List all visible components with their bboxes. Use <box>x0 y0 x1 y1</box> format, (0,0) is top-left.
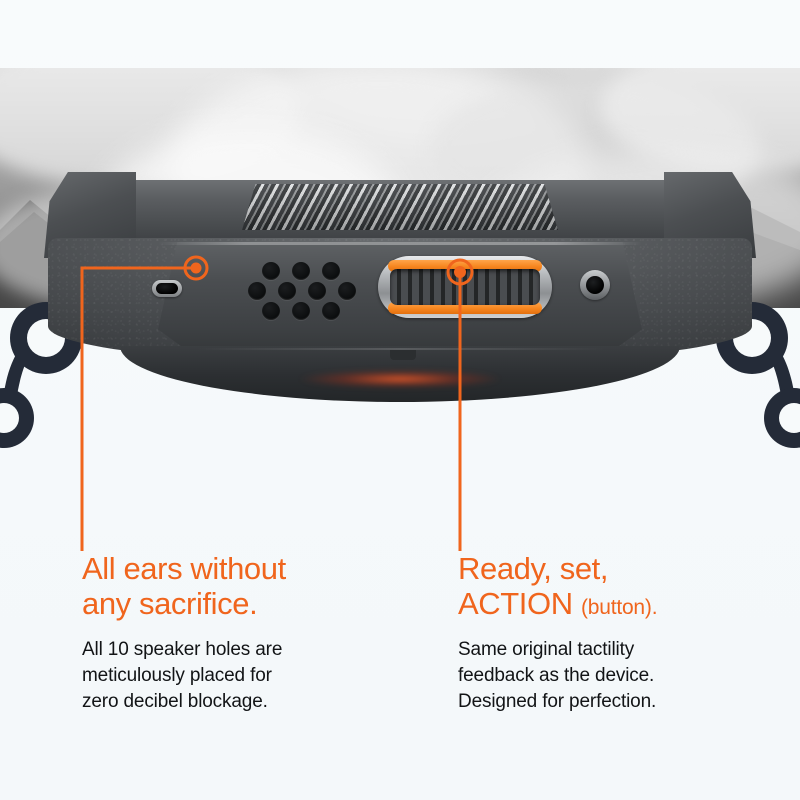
speaker-hole <box>262 302 280 320</box>
speaker-hole <box>262 262 280 280</box>
speakers-body-line1: All 10 speaker holes are <box>82 637 412 663</box>
speakers-body: All 10 speaker holes are meticulously pl… <box>82 637 412 714</box>
action-heading: Ready, set, ACTION (button). <box>458 552 788 621</box>
speakers-heading-line2: any sacrifice. <box>82 587 412 622</box>
speaker-hole-grid <box>258 262 364 320</box>
rugged-case-device <box>0 170 800 430</box>
action-body-line2: feedback as the device. <box>458 663 788 689</box>
speaker-hole <box>292 302 310 320</box>
action-heading-small: (button). <box>581 596 657 619</box>
camera-lens-glow <box>300 370 500 388</box>
carbon-panel-sheen <box>232 184 568 230</box>
speaker-hole <box>248 282 266 300</box>
speakers-heading: All ears without any sacrifice. <box>82 552 412 621</box>
action-button[interactable] <box>378 256 552 318</box>
speakers-body-line3: zero decibel blockage. <box>82 689 412 715</box>
action-body: Same original tactility feedback as the … <box>458 637 788 714</box>
speaker-hole <box>322 262 340 280</box>
speakers-body-line2: meticulously placed for <box>82 663 412 689</box>
plate-edge-highlight <box>158 242 642 245</box>
action-heading-line2: ACTION (button). <box>458 587 788 622</box>
speaker-hole <box>322 302 340 320</box>
action-body-line1: Same original tactility <box>458 637 788 663</box>
marketing-slide: All ears without any sacrifice. All 10 s… <box>0 0 800 800</box>
speakers-heading-line1: All ears without <box>82 552 412 587</box>
action-heading-strong: ACTION <box>458 586 573 621</box>
action-button-ridged-face[interactable] <box>390 269 540 305</box>
oval-mic-slot <box>152 280 182 297</box>
speaker-hole <box>292 262 310 280</box>
underside-notch <box>390 350 416 360</box>
speaker-hole <box>338 282 356 300</box>
feature-column-action-button: Ready, set, ACTION (button). Same origin… <box>458 552 788 714</box>
speaker-hole <box>278 282 296 300</box>
round-port <box>580 270 610 300</box>
action-heading-line1: Ready, set, <box>458 552 788 587</box>
speaker-hole <box>308 282 326 300</box>
feature-column-speakers: All ears without any sacrifice. All 10 s… <box>82 552 412 714</box>
action-body-line3: Designed for perfection. <box>458 689 788 715</box>
